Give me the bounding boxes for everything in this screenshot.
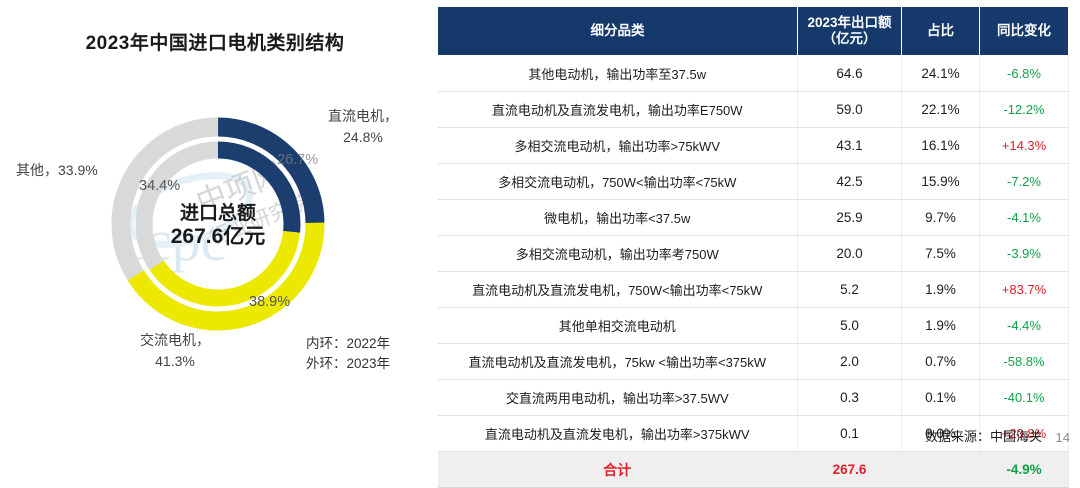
inner-value-other: 34.4% [139, 178, 180, 194]
cell-amount: 0.1 [798, 416, 902, 452]
outer-label-ac: 交流电机， 41.3% [140, 330, 210, 372]
data-table: 细分品类 2023年出口额 （亿元） 占比 同比变化 其他电动机，输出功率至37… [437, 6, 1069, 488]
cell-category: 直流电动机及直流发电机，输出功率E750W [438, 92, 798, 128]
outer-label-ac-name: 交流电机， [140, 332, 210, 348]
cell-share: 7.5% [902, 236, 980, 272]
inner-value-dc: 26.7% [277, 152, 318, 168]
cell-share: 15.9% [902, 164, 980, 200]
data-table-panel: 细分品类 2023年出口额 （亿元） 占比 同比变化 其他电动机，输出功率至37… [437, 6, 1073, 488]
cell-amount: 2.0 [798, 344, 902, 380]
cell-change: -40.1% [980, 380, 1069, 416]
cell-category: 直流电动机及直流发电机，750W<输出功率<75kW [438, 272, 798, 308]
cell-change: -6.8% [980, 56, 1069, 92]
cell-change: -7.2% [980, 164, 1069, 200]
center-total-label: 进口总额 [148, 203, 288, 225]
header-category: 细分品类 [438, 7, 798, 56]
cell-amount: 64.6 [798, 56, 902, 92]
cell-category: 多相交流电动机，750W<输出功率<75kW [438, 164, 798, 200]
slide-root: 2023年中国进口电机类别结构 ccpc 中项网 行业研究院 [0, 0, 1080, 451]
header-amount-line2: （亿元） [823, 31, 877, 46]
total-change: -4.9% [980, 452, 1069, 488]
outer-label-other: 其他，33.9% [16, 160, 98, 181]
outer-label-dc-value: 24.8% [343, 129, 383, 145]
table-body: 其他电动机，输出功率至37.5w 64.6 24.1% -6.8% 直流电动机及… [438, 56, 1069, 488]
center-total-value: 267.6亿元 [148, 225, 288, 250]
source-note: 数据来源：中国海关 [925, 426, 1042, 445]
ring-legend-outer: 外环：2023年 [306, 354, 390, 374]
cell-category: 微电机，输出功率<37.5w [438, 200, 798, 236]
cell-amount: 5.2 [798, 272, 902, 308]
donut-center-total: 进口总额 267.6亿元 [148, 203, 288, 250]
outer-label-dc: 直流电机， 24.8% [328, 106, 398, 148]
cell-change: -4.1% [980, 200, 1069, 236]
cell-share: 1.9% [902, 272, 980, 308]
cell-amount: 5.0 [798, 308, 902, 344]
cell-share: 0.7% [902, 344, 980, 380]
table-total-row: 合计 267.6 -4.9% [438, 452, 1069, 488]
table-row: 多相交流电动机，输出功率考750W 20.0 7.5% -3.9% [438, 236, 1069, 272]
outer-label-ac-value: 41.3% [155, 353, 195, 369]
table-row: 微电机，输出功率<37.5w 25.9 9.7% -4.1% [438, 200, 1069, 236]
table-row: 直流电动机及直流发电机，输出功率E750W 59.0 22.1% -12.2% [438, 92, 1069, 128]
cell-share: 22.1% [902, 92, 980, 128]
cell-category: 多相交流电动机，输出功率>75kWV [438, 128, 798, 164]
table-header-row: 细分品类 2023年出口额 （亿元） 占比 同比变化 [438, 7, 1069, 56]
cell-amount: 25.9 [798, 200, 902, 236]
cell-change: -4.4% [980, 308, 1069, 344]
cell-share: 24.1% [902, 56, 980, 92]
table-row: 多相交流电动机，750W<输出功率<75kW 42.5 15.9% -7.2% [438, 164, 1069, 200]
outer-label-other-text: 其他，33.9% [16, 162, 98, 178]
cell-change: +83.7% [980, 272, 1069, 308]
table-row: 其他单相交流电动机 5.0 1.9% -4.4% [438, 308, 1069, 344]
table-header: 细分品类 2023年出口额 （亿元） 占比 同比变化 [438, 7, 1069, 56]
cell-share: 16.1% [902, 128, 980, 164]
cell-share: 9.7% [902, 200, 980, 236]
cell-amount: 43.1 [798, 128, 902, 164]
cell-category: 直流电动机及直流发电机，75kw <输出功率<375kW [438, 344, 798, 380]
table-row: 交直流两用电动机，输出功率>37.5WV 0.3 0.1% -40.1% [438, 380, 1069, 416]
inner-value-ac: 38.9% [249, 294, 290, 310]
ring-legend-inner: 内环：2022年 [306, 334, 390, 354]
cell-category: 交直流两用电动机，输出功率>37.5WV [438, 380, 798, 416]
cell-amount: 59.0 [798, 92, 902, 128]
cell-category: 其他单相交流电动机 [438, 308, 798, 344]
header-share: 占比 [902, 7, 980, 56]
cell-category: 其他电动机，输出功率至37.5w [438, 56, 798, 92]
cell-share: 1.9% [902, 308, 980, 344]
cell-category: 直流电动机及直流发电机，输出功率>375kWV [438, 416, 798, 452]
cell-change: +14.3% [980, 128, 1069, 164]
outer-label-dc-name: 直流电机， [328, 108, 398, 124]
cell-amount: 20.0 [798, 236, 902, 272]
header-amount: 2023年出口额 （亿元） [798, 7, 902, 56]
table-row: 多相交流电动机，输出功率>75kWV 43.1 16.1% +14.3% [438, 128, 1069, 164]
table-row: 直流电动机及直流发电机，750W<输出功率<75kW 5.2 1.9% +83.… [438, 272, 1069, 308]
ring-legend: 内环：2022年 外环：2023年 [306, 334, 390, 373]
cell-share: 0.1% [902, 380, 980, 416]
chart-title: 2023年中国进口电机类别结构 [0, 28, 430, 55]
cell-change: -12.2% [980, 92, 1069, 128]
cell-change: -58.8% [980, 344, 1069, 380]
cell-change: -3.9% [980, 236, 1069, 272]
total-amount: 267.6 [798, 452, 902, 488]
table-row: 其他电动机，输出功率至37.5w 64.6 24.1% -6.8% [438, 56, 1069, 92]
header-amount-line1: 2023年出口额 [807, 15, 891, 30]
cell-amount: 42.5 [798, 164, 902, 200]
total-label: 合计 [438, 452, 798, 488]
header-change: 同比变化 [980, 7, 1069, 56]
cell-category: 多相交流电动机，输出功率考750W [438, 236, 798, 272]
total-share [902, 452, 980, 488]
chart-panel: 2023年中国进口电机类别结构 ccpc 中项网 行业研究院 [0, 0, 430, 451]
page-number: 14 [1056, 430, 1070, 445]
cell-amount: 0.3 [798, 380, 902, 416]
table-row: 直流电动机及直流发电机，75kw <输出功率<375kW 2.0 0.7% -5… [438, 344, 1069, 380]
